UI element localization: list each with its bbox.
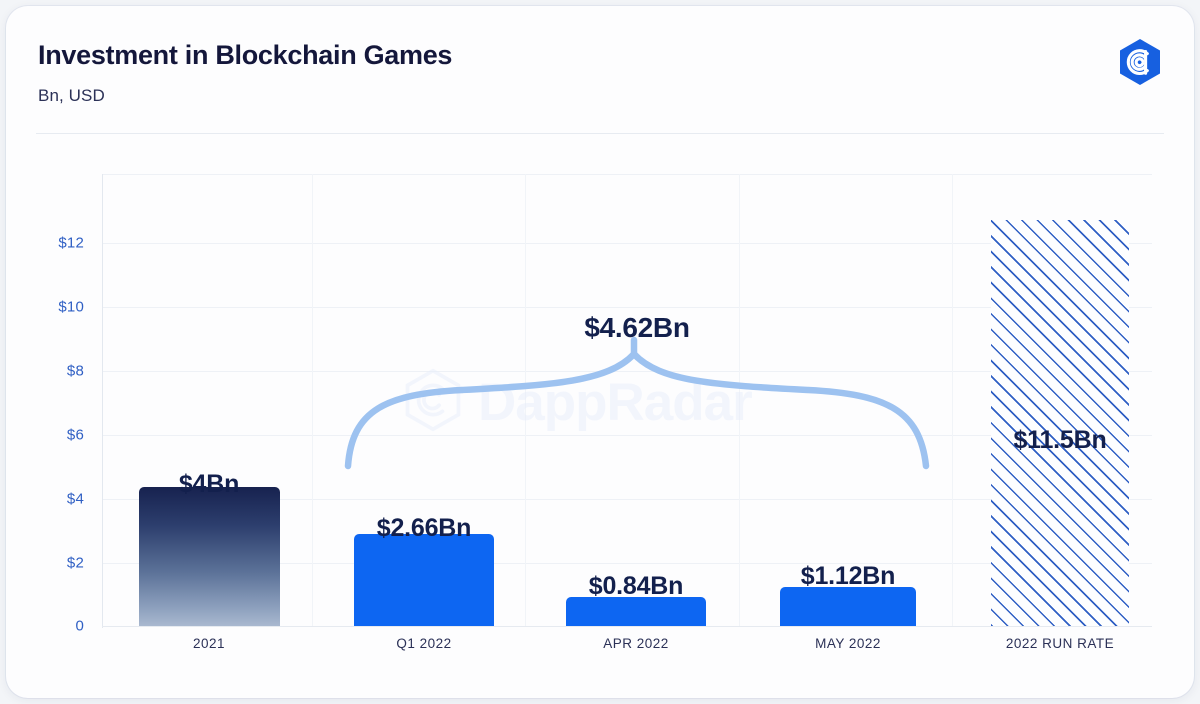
y-axis-label: $6	[24, 427, 84, 444]
bar-chart: DappRadar $12 $10 $8 $6 $4 $2 0 $4Bn $2.…	[6, 134, 1194, 698]
bar-value-may-2022: $1.12Bn	[728, 562, 968, 591]
bar-may-2022[interactable]	[780, 587, 916, 626]
y-axis-label: $12	[24, 235, 84, 252]
x-axis-label-2021: 2021	[109, 636, 309, 651]
y-axis-label: $2	[24, 555, 84, 572]
watermark-text: DappRadar	[478, 372, 752, 433]
x-axis-label-q1-2022: Q1 2022	[324, 636, 524, 651]
bar-value-q1-2022: $2.66Bn	[304, 514, 544, 543]
y-axis-label: $10	[24, 299, 84, 316]
chart-card: Investment in Blockchain Games Bn, USD	[6, 6, 1194, 698]
y-axis-line	[102, 174, 103, 628]
dappradar-hexagon-watermark-icon	[400, 367, 466, 438]
bar-q1-2022[interactable]	[354, 534, 494, 626]
page-root: Investment in Blockchain Games Bn, USD	[0, 0, 1200, 704]
vertical-gridline	[952, 174, 953, 626]
brace-annotation-icon	[342, 332, 932, 472]
page-subtitle: Bn, USD	[38, 86, 105, 106]
vertical-gridline	[525, 174, 526, 626]
y-axis-label: $4	[24, 491, 84, 508]
bar-value-apr-2022: $0.84Bn	[516, 572, 756, 601]
dappradar-hexagon-logo-icon	[1114, 36, 1166, 88]
card-header: Investment in Blockchain Games Bn, USD	[6, 6, 1194, 134]
bar-value-2021: $4Bn	[89, 470, 329, 499]
x-axis-baseline	[102, 626, 1152, 627]
gridline-top	[102, 174, 1152, 175]
x-axis-label-apr-2022: APR 2022	[536, 636, 736, 651]
vertical-gridline	[739, 174, 740, 626]
brace-annotation-label: $4.62Bn	[342, 312, 932, 344]
y-axis-label: $8	[24, 363, 84, 380]
vertical-gridline	[312, 174, 313, 626]
bar-apr-2022[interactable]	[566, 597, 706, 626]
bar-2021[interactable]	[139, 487, 280, 626]
bar-2022-run-rate[interactable]	[991, 220, 1129, 626]
bar-value-2022-run-rate: $11.5Bn	[940, 426, 1180, 455]
x-axis-label-2022-run-rate: 2022 RUN RATE	[960, 636, 1160, 651]
y-axis-label: 0	[24, 618, 84, 635]
x-axis-label-may-2022: MAY 2022	[748, 636, 948, 651]
dappradar-watermark: DappRadar	[400, 366, 900, 438]
page-title: Investment in Blockchain Games	[38, 40, 452, 71]
